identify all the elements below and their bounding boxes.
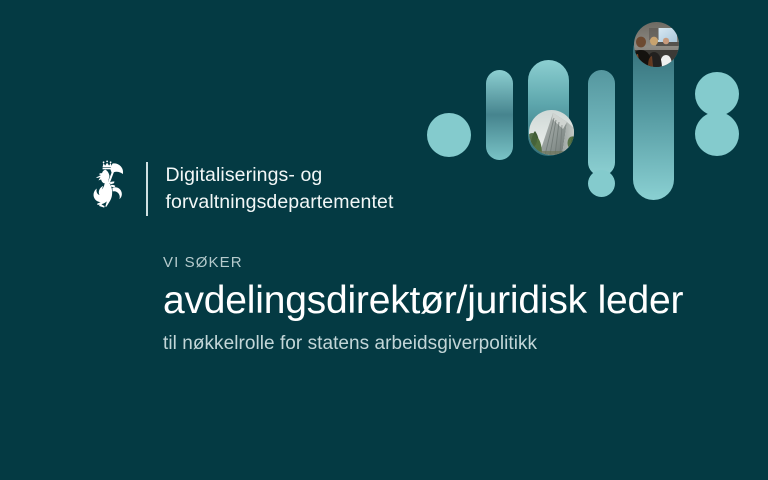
pill-gradient-4 <box>588 70 615 176</box>
circle-solid-6b <box>695 112 739 156</box>
job-advert-poster: Digitaliserings- og forvaltningsdepartem… <box>0 0 768 480</box>
ministry-name: Digitaliserings- og forvaltningsdepartem… <box>166 162 394 215</box>
circle-solid-4-cap <box>588 170 615 197</box>
pill-gradient-3 <box>528 60 569 156</box>
photo-bubble-meeting-room <box>634 22 679 67</box>
photo-bubble-building <box>529 110 574 155</box>
page-subtitle: til nøkkelrolle for statens arbeidsgiver… <box>163 332 744 356</box>
page-title: avdelingsdirektør/juridisk leder <box>163 280 744 322</box>
headline-block: VI SØKER avdelingsdirektør/juridisk lede… <box>163 254 744 356</box>
pill-gradient-2 <box>486 70 513 160</box>
eyebrow-label: VI SØKER <box>163 254 744 272</box>
capsule-pattern-decoration <box>420 0 768 215</box>
logo-divider <box>146 162 148 216</box>
circle-solid-1 <box>427 113 471 157</box>
norwegian-lion-crest-icon <box>84 158 130 220</box>
circle-solid-6a <box>695 72 739 116</box>
ministry-logo-lockup: Digitaliserings- og forvaltningsdepartem… <box>84 158 393 220</box>
pill-gradient-5 <box>633 30 674 200</box>
